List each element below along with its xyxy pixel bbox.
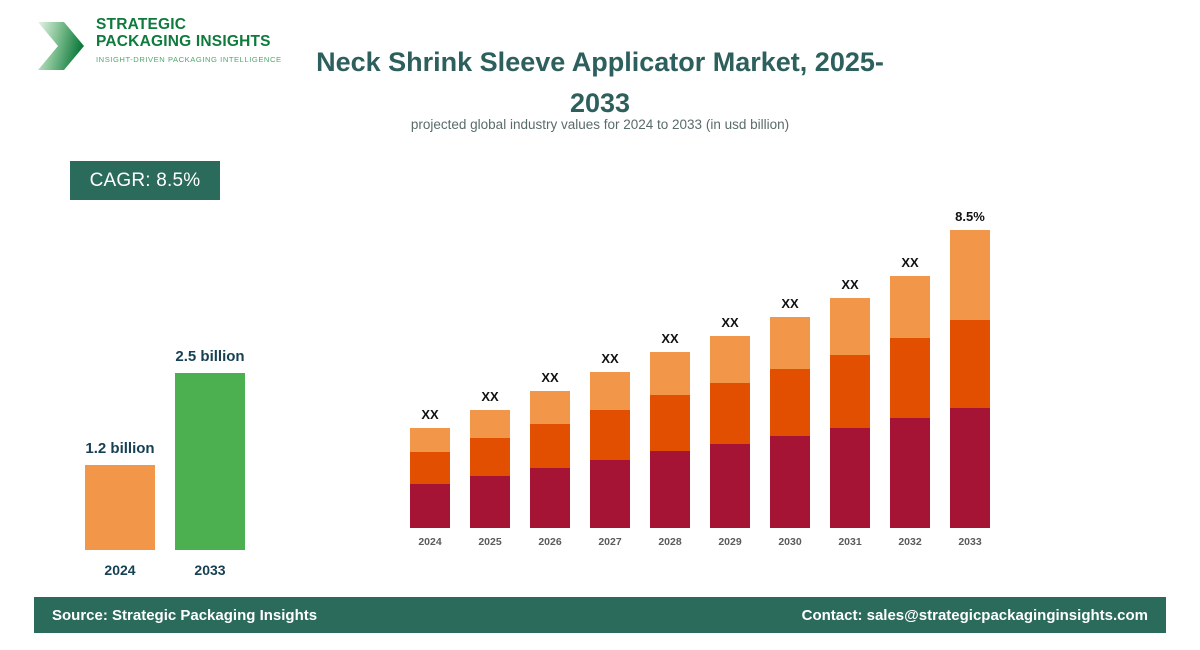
bar-segment-segment-bottom bbox=[650, 451, 690, 528]
bar-segment-segment-bottom bbox=[830, 428, 870, 528]
bar-segment-segment-middle bbox=[950, 320, 990, 408]
bar-segment-segment-top bbox=[470, 410, 510, 438]
logo-wordmark: STRATEGIC PACKAGING INSIGHTS INSIGHT-DRI… bbox=[96, 16, 282, 64]
bar-value-label-2033: 8.5% bbox=[935, 209, 1005, 224]
bar-value-label-2032: XX bbox=[875, 255, 945, 270]
bar-segment-segment-middle bbox=[710, 383, 750, 444]
bar-segment-segment-middle bbox=[470, 438, 510, 476]
stacked-bar-2024 bbox=[410, 428, 450, 528]
bar-segment-segment-top bbox=[710, 336, 750, 383]
company-logo: STRATEGIC PACKAGING INSIGHTS INSIGHT-DRI… bbox=[34, 16, 284, 78]
stacked-bar-2031 bbox=[830, 298, 870, 528]
bar-segment-segment-middle bbox=[410, 452, 450, 484]
stacked-bar-2026 bbox=[530, 391, 570, 528]
bar-segment-segment-middle bbox=[770, 369, 810, 436]
bar-segment-segment-bottom bbox=[890, 418, 930, 528]
bar-segment-segment-bottom bbox=[470, 476, 510, 528]
bar-segment-segment-bottom bbox=[590, 460, 630, 528]
bar-segment-segment-middle bbox=[890, 338, 930, 418]
bar-segment-segment-top bbox=[410, 428, 450, 452]
comparison-bar-2033 bbox=[175, 373, 245, 550]
bar-value-label-2029: XX bbox=[695, 315, 765, 330]
bar-segment-segment-top bbox=[530, 391, 570, 424]
footer-source: Source: Strategic Packaging Insights bbox=[34, 607, 317, 624]
bar-segment-segment-middle bbox=[650, 395, 690, 451]
bar-segment-segment-top bbox=[770, 317, 810, 369]
bar-segment-segment-bottom bbox=[410, 484, 450, 528]
bar-value-label-2025: XX bbox=[455, 389, 525, 404]
logo-line-1: STRATEGIC bbox=[96, 16, 282, 33]
comparison-bar-2024 bbox=[85, 465, 155, 550]
bar-value-label-2031: XX bbox=[815, 277, 885, 292]
stacked-bar-2033 bbox=[950, 230, 990, 528]
stacked-bar-2030 bbox=[770, 317, 810, 528]
bar-segment-segment-top bbox=[950, 230, 990, 320]
bar-segment-segment-bottom bbox=[950, 408, 990, 528]
bar-segment-segment-bottom bbox=[710, 444, 750, 528]
comparison-year-label-2024: 2024 bbox=[75, 562, 165, 578]
footer-bar: Source: Strategic Packaging Insights Con… bbox=[34, 597, 1166, 633]
bar-segment-segment-middle bbox=[530, 424, 570, 468]
stacked-bar-2025 bbox=[470, 410, 510, 528]
comparison-value-label-2024: 1.2 billion bbox=[50, 440, 190, 457]
stacked-bar-2028 bbox=[650, 352, 690, 528]
comparison-year-label-2033: 2033 bbox=[165, 562, 255, 578]
bar-segment-segment-bottom bbox=[530, 468, 570, 528]
bar-segment-segment-middle bbox=[590, 410, 630, 460]
infographic-page: STRATEGIC PACKAGING INSIGHTS INSIGHT-DRI… bbox=[0, 0, 1200, 650]
comparison-bar-fill bbox=[85, 465, 155, 550]
chevron-right-icon bbox=[34, 18, 88, 74]
bar-value-label-2027: XX bbox=[575, 351, 645, 366]
stacked-bar-2029 bbox=[710, 336, 750, 528]
cagr-badge: CAGR: 8.5% bbox=[70, 161, 220, 200]
bar-value-label-2024: XX bbox=[395, 407, 465, 422]
bar-segment-segment-top bbox=[590, 372, 630, 410]
bar-value-label-2026: XX bbox=[515, 370, 585, 385]
comparison-value-label-2033: 2.5 billion bbox=[140, 348, 280, 365]
logo-tagline: INSIGHT-DRIVEN PACKAGING INTELLIGENCE bbox=[96, 55, 282, 64]
endpoint-comparison-chart: 1.2 billion 2024 2.5 billion 2033 bbox=[40, 300, 310, 580]
logo-line-2: PACKAGING INSIGHTS bbox=[96, 33, 282, 50]
stacked-bar-2032 bbox=[890, 276, 930, 528]
bar-segment-segment-top bbox=[650, 352, 690, 395]
stacked-bar-2027 bbox=[590, 372, 630, 528]
bar-segment-segment-top bbox=[890, 276, 930, 338]
bar-segment-segment-bottom bbox=[770, 436, 810, 528]
page-subtitle: projected global industry values for 202… bbox=[280, 116, 920, 134]
x-axis-label-2033: 2033 bbox=[935, 536, 1005, 548]
bar-value-label-2028: XX bbox=[635, 331, 705, 346]
page-title: Neck Shrink Sleeve Applicator Market, 20… bbox=[300, 42, 900, 124]
stacked-forecast-chart: XX2024XX2025XX2026XX2027XX2028XX2029XX20… bbox=[400, 190, 1020, 570]
footer-contact: Contact: sales@strategicpackaginginsight… bbox=[802, 607, 1166, 624]
bar-value-label-2030: XX bbox=[755, 296, 825, 311]
bar-segment-segment-middle bbox=[830, 355, 870, 428]
bar-segment-segment-top bbox=[830, 298, 870, 355]
comparison-bar-fill bbox=[175, 373, 245, 550]
